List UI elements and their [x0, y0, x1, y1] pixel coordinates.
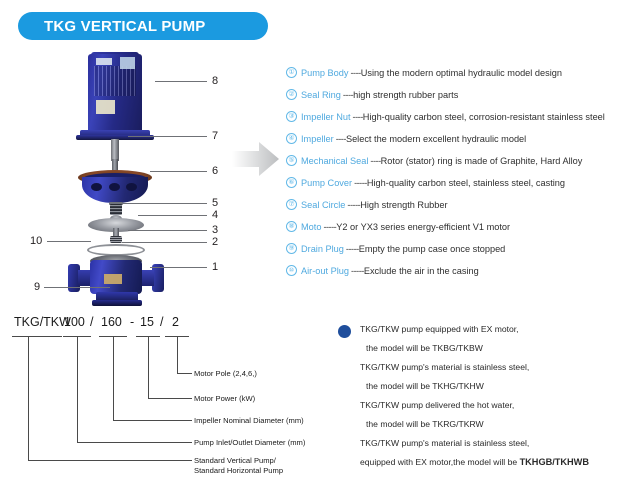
note-line-7: TKG/TKW pump's material is stainless ste…	[336, 434, 617, 453]
legend-dash-4: ----	[336, 128, 346, 150]
leader-line-6	[150, 171, 207, 172]
legend-name-7: Seal Circle	[301, 194, 345, 216]
code-drop-pole	[177, 336, 178, 373]
pump-cover-window-2	[109, 183, 120, 191]
legend-dash-6: -----	[354, 172, 367, 194]
legend-item-9: ⑨ Drain Plug ----- Empty the pump case o…	[286, 238, 616, 260]
motor-cooling-fins	[94, 66, 136, 96]
note-line-3: TKG/TKW pump's material is stainless ste…	[336, 358, 617, 377]
legend-name-2: Seal Ring	[301, 84, 341, 106]
callout-number-1: 1	[212, 262, 218, 273]
code-segment-impeller: 160	[101, 315, 122, 329]
leader-line-9	[44, 287, 110, 288]
drain-plug-base	[92, 300, 142, 306]
legend-desc-7: High strength Rubber	[360, 194, 447, 216]
legend-item-3: ③ Impeller Nut ---- High-quality carbon …	[286, 106, 616, 128]
bullet-dot-icon	[338, 325, 351, 338]
legend-name-4: Impeller	[301, 128, 334, 150]
leader-line-4	[138, 215, 207, 216]
leader-line-10	[47, 241, 91, 242]
legend-dash-9: -----	[346, 238, 359, 260]
mechanical-seal	[110, 204, 122, 215]
legend-number-icon-5: ⑤	[286, 155, 297, 166]
code-elbow-impeller	[113, 420, 192, 421]
code-elbow-power	[148, 398, 192, 399]
note-line-8-text: equipped with EX motor,the model will be	[360, 457, 520, 467]
legend-item-4: ④ Impeller ---- Select the modern excell…	[286, 128, 616, 150]
callout-number-8: 8	[212, 76, 218, 87]
legend-name-5: Mechanical Seal	[301, 150, 368, 172]
code-underline-prefix	[12, 336, 62, 337]
leader-line-1	[150, 267, 207, 268]
code-label-motor-pole: Motor Pole (2,4,6,)	[194, 369, 257, 378]
note-line-5: TKG/TKW pump delivered the hot water,	[336, 396, 617, 415]
legend-item-10: ⑩ Air-out Plug ----- Exclude the air in …	[286, 260, 616, 282]
code-segment-pole: 2	[172, 315, 179, 329]
motor-nameplate-upper	[96, 58, 112, 65]
legend-number-icon-6: ⑥	[286, 177, 297, 188]
exploded-pump-diagram	[60, 52, 190, 297]
note-line-6: the model will be TKRG/TKRW	[336, 415, 617, 434]
code-segment-power: 15	[140, 315, 154, 329]
impeller-stem	[113, 228, 119, 236]
legend-number-icon-3: ③	[286, 111, 297, 122]
note-line-4: the model will be TKHG/TKHW	[336, 377, 617, 396]
legend-desc-10: Exclude the air in the casing	[364, 260, 479, 282]
note-line-1: TKG/TKW pump equipped with EX motor,	[336, 320, 617, 339]
legend-item-2: ② Seal Ring ---- high strength rubber pa…	[286, 84, 616, 106]
legend-number-icon-10: ⑩	[286, 265, 297, 276]
code-elbow-pole	[177, 373, 192, 374]
legend-dash-5: ----	[370, 150, 380, 172]
leader-line-2	[122, 242, 207, 243]
motor-terminal-box	[120, 57, 135, 69]
legend-desc-5: Rotor (stator) ring is made of Graphite,…	[381, 150, 583, 172]
legend-desc-1: Using the modern optimal hydraulic model…	[361, 62, 562, 84]
model-variant-notes: TKG/TKW pump equipped with EX motor, the…	[336, 320, 617, 472]
callout-number-10: 10	[30, 236, 42, 247]
callout-number-2: 2	[212, 237, 218, 248]
legend-name-8: Moto	[301, 216, 321, 238]
code-segment-prefix: TKG/TKW	[14, 315, 71, 329]
legend-name-3: Impeller Nut	[301, 106, 351, 128]
callout-number-4: 4	[212, 210, 218, 221]
legend-dash-7: -----	[347, 194, 360, 216]
callout-number-3: 3	[212, 225, 218, 236]
callout-number-6: 6	[212, 166, 218, 177]
code-elbow-prefix	[28, 460, 192, 461]
code-label-standard-horizontal: Standard Horizontal Pump	[194, 466, 283, 475]
legend-item-1: ① Pump Body ---- Using the modern optima…	[286, 62, 616, 84]
legend-dash-2: ----	[343, 84, 353, 106]
code-drop-impeller	[113, 336, 114, 420]
legend-dash-8: -----	[323, 216, 336, 238]
callout-number-9: 9	[34, 282, 40, 293]
legend-name-9: Drain Plug	[301, 238, 344, 260]
code-separator-1: /	[90, 315, 93, 329]
product-sheet: TKG VERTICAL PUMP	[0, 0, 617, 500]
right-arrow-icon	[232, 141, 280, 177]
legend-desc-8: Y2 or YX3 series energy-efficient V1 mot…	[336, 216, 510, 238]
leader-line-3	[128, 230, 207, 231]
code-elbow-inlet	[77, 442, 192, 443]
legend-number-icon-2: ②	[286, 89, 297, 100]
legend-name-10: Air-out Plug	[301, 260, 349, 282]
legend-desc-3: High-quality carbon steel, corrosion-res…	[363, 106, 605, 128]
legend-number-icon-1: ①	[286, 67, 297, 78]
legend-item-5: ⑤ Mechanical Seal ---- Rotor (stator) ri…	[286, 150, 616, 172]
legend-name-6: Pump Cover	[301, 172, 352, 194]
note-line-8-model: TKHGB/TKHWB	[520, 457, 589, 467]
pump-body-nameplate	[104, 274, 122, 284]
page-title-text: TKG VERTICAL PUMP	[44, 18, 205, 35]
pump-cover-window-3	[126, 183, 137, 191]
legend-number-icon-9: ⑨	[286, 243, 297, 254]
note-line-8: equipped with EX motor,the model will be…	[336, 453, 617, 472]
legend-item-8: ⑧ Moto ----- Y2 or YX3 series energy-eff…	[286, 216, 616, 238]
callout-number-7: 7	[212, 131, 218, 142]
leader-line-8	[155, 81, 207, 82]
legend-desc-2: high strength rubber parts	[353, 84, 458, 106]
code-label-motor-power: Motor Power (kW)	[194, 394, 255, 403]
pump-cover-window-1	[91, 183, 102, 191]
legend-item-6: ⑥ Pump Cover ----- High-quality carbon s…	[286, 172, 616, 194]
legend-desc-9: Empty the pump case once stopped	[359, 238, 506, 260]
legend-desc-6: High-quality carbon steel, stainless ste…	[367, 172, 565, 194]
motor-nameplate-lower	[96, 100, 115, 114]
parts-legend: ① Pump Body ---- Using the modern optima…	[286, 62, 616, 282]
code-drop-power	[148, 336, 149, 398]
legend-number-icon-4: ④	[286, 133, 297, 144]
impeller-nut	[110, 236, 122, 243]
legend-dash-3: ----	[353, 106, 363, 128]
note-line-2: the model will be TKBG/TKBW	[336, 339, 617, 358]
leader-line-7	[128, 136, 207, 137]
code-label-standard-vertical: Standard Vertical Pump/	[194, 456, 276, 465]
code-separator-2: -	[130, 315, 134, 329]
legend-name-1: Pump Body	[301, 62, 349, 84]
code-segment-inlet: 100	[64, 315, 85, 329]
code-separator-3: /	[160, 315, 163, 329]
code-drop-prefix	[28, 336, 29, 460]
callout-number-5: 5	[212, 198, 218, 209]
legend-dash-10: -----	[351, 260, 364, 282]
code-label-inlet-diameter: Pump Inlet/Outlet Diameter (mm)	[194, 438, 305, 447]
legend-dash-1: ----	[351, 62, 361, 84]
code-drop-inlet	[77, 336, 78, 442]
pump-shaft	[111, 139, 119, 161]
legend-desc-4: Select the modern excellent hydraulic mo…	[346, 128, 526, 150]
page-title: TKG VERTICAL PUMP	[18, 12, 268, 40]
leader-line-5	[120, 203, 207, 204]
code-label-impeller-diameter: Impeller Nominal Diameter (mm)	[194, 416, 304, 425]
legend-item-7: ⑦ Seal Circle ----- High strength Rubber	[286, 194, 616, 216]
legend-number-icon-7: ⑦	[286, 199, 297, 210]
legend-number-icon-8: ⑧	[286, 221, 297, 232]
